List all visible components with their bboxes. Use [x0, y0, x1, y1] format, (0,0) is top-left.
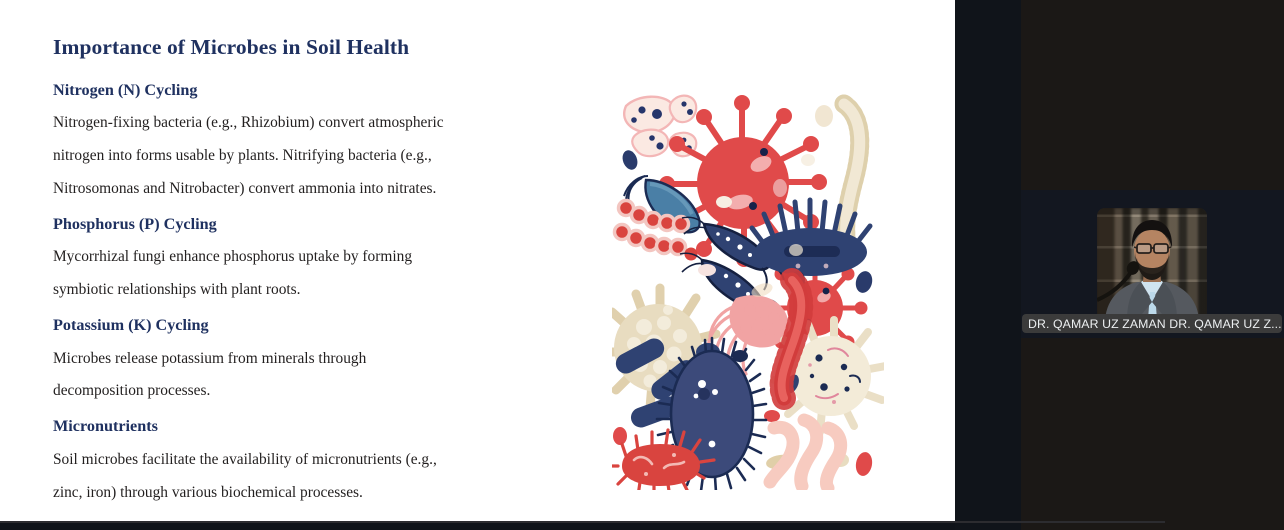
- amoeba-pink-small-2: [632, 130, 668, 157]
- text-line: Microbes release potassium from minerals…: [53, 343, 520, 376]
- participant-person: [1097, 208, 1207, 320]
- dark-left-strip: [955, 0, 1021, 530]
- slide-text-column: Importance of Microbes in Soil Health Ni…: [53, 36, 520, 518]
- section-heading-micronutrients: Micronutrients: [53, 417, 520, 436]
- text-line: Nitrosomonas and Nitrobacter) convert am…: [53, 173, 520, 206]
- text-line: decomposition processes.: [53, 375, 520, 408]
- worms-pink: [770, 420, 841, 488]
- section-heading-phosphorus: Phosphorus (P) Cycling: [53, 215, 520, 234]
- section-heading-potassium: Potassium (K) Cycling: [53, 316, 520, 335]
- participant-name-label: DR. QAMAR UZ ZAMAN DR. QAMAR UZ Z...: [1022, 317, 1282, 331]
- section-potassium-cycling: Potassium (K) Cycling Microbes release p…: [53, 316, 520, 408]
- slide-bottom-divider: [0, 521, 1165, 523]
- amoeba-pink-large: [624, 97, 675, 133]
- text-line: Soil microbes facilitate the availabilit…: [53, 444, 520, 477]
- section-phosphorus-cycling: Phosphorus (P) Cycling Mycorrhizal fungi…: [53, 215, 520, 307]
- section-body-phosphorus: Mycorrhizal fungi enhance phosphorus upt…: [53, 241, 520, 307]
- section-body-micronutrients: Soil microbes facilitate the availabilit…: [53, 444, 520, 510]
- text-line: Nitrogen-fixing bacteria (e.g., Rhizobiu…: [53, 107, 520, 140]
- presentation-slide[interactable]: Importance of Microbes in Soil Health Ni…: [0, 0, 955, 521]
- text-line: symbiotic relationships with plant roots…: [53, 274, 520, 307]
- amoeba-pink-small-1: [670, 96, 696, 123]
- participant-name-badge: DR. QAMAR UZ ZAMAN DR. QAMAR UZ Z...: [1022, 314, 1282, 333]
- section-body-potassium: Microbes release potassium from minerals…: [53, 343, 520, 409]
- section-nitrogen-cycling: Nitrogen (N) Cycling Nitrogen-fixing bac…: [53, 81, 520, 206]
- text-line: nitrogen into forms usable by plants. Ni…: [53, 140, 520, 173]
- participant-video-tile[interactable]: [1097, 208, 1207, 320]
- text-line: Mycorrhizal fungi enhance phosphorus upt…: [53, 241, 520, 274]
- section-heading-nitrogen: Nitrogen (N) Cycling: [53, 81, 520, 100]
- microbes-illustration: [612, 84, 884, 490]
- text-line: zinc, iron) through various biochemical …: [53, 477, 520, 510]
- page-title: Importance of Microbes in Soil Health: [53, 36, 520, 60]
- section-body-nitrogen: Nitrogen-fixing bacteria (e.g., Rhizobiu…: [53, 107, 520, 205]
- meeting-screen: Importance of Microbes in Soil Health Ni…: [0, 0, 1284, 530]
- section-micronutrients: Micronutrients Soil microbes facilitate …: [53, 417, 520, 509]
